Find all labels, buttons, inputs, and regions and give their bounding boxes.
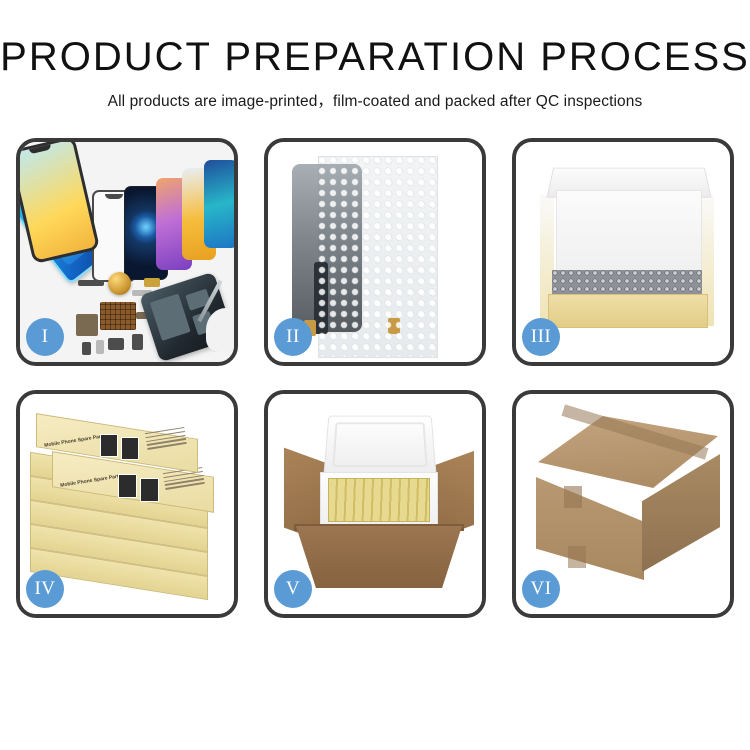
panel-5-badge: V [274,570,312,608]
process-panel-5[interactable]: V [264,390,486,618]
part-gold-clip [144,278,160,287]
panel-6-image: VI [516,394,730,614]
panel-2-image: II [268,142,482,362]
page-subtitle: All products are image-printed，film-coat… [0,89,750,111]
process-panel-1[interactable]: I [16,138,238,366]
panel-5-image: V [268,394,482,614]
process-panel-2[interactable]: II [264,138,486,366]
part-small-chip-a [82,342,91,355]
cracked-screen-phone [20,142,100,264]
part-battery-connector [132,334,143,350]
panel-1-badge: I [26,318,64,356]
box-label-screen-img-rear-a [100,434,118,457]
panel-3-image: III [516,142,730,362]
carton-front-panel [296,526,462,588]
process-panel-3[interactable]: III [512,138,734,366]
panel-1-image: I [20,142,234,362]
header: PRODUCT PREPARATION PROCESS All products… [0,0,750,111]
panel-4-badge: IV [26,570,64,608]
yellow-boxes-inside [328,478,430,522]
part-speaker-module [108,338,124,350]
bubble-wrap-overlay [318,156,436,356]
styrofoam-lid [323,416,436,475]
panel-4-image: Mobile Phone Spare Parts Mobile Phone Sp… [20,394,234,614]
carton-tape-tab-lower [568,546,586,568]
kraft-box-front-panel [548,294,708,328]
process-panel-4[interactable]: Mobile Phone Spare Parts Mobile Phone Sp… [16,390,238,618]
process-panel-6[interactable]: VI [512,390,734,618]
panel-3-badge: III [522,318,560,356]
box-label-screen-img-front-b [140,478,159,502]
part-connector-strip [78,280,104,286]
panel-2-badge: II [274,318,312,356]
box-label-screen-img-rear-b [121,437,139,460]
carton-tape-tab-upper [564,486,582,508]
gold-coil-component [108,272,131,295]
technician-hand [206,308,234,352]
part-flex-cable [76,314,98,336]
carton-front-face [536,468,644,580]
part-small-chip-b [96,340,104,354]
box-label-screen-img-front-a [118,474,137,498]
teal-gradient-phone [204,160,234,248]
page-title: PRODUCT PREPARATION PROCESS [0,36,750,78]
process-grid: I II III [0,138,750,618]
chip-grid-component [100,302,136,330]
white-foam-sheet [556,190,702,272]
grey-bubble-wrap-layer [552,270,702,296]
process-row-bottom: Mobile Phone Spare Parts Mobile Phone Sp… [0,390,750,618]
panel-6-badge: VI [522,570,560,608]
process-row-top: I II III [0,138,750,366]
